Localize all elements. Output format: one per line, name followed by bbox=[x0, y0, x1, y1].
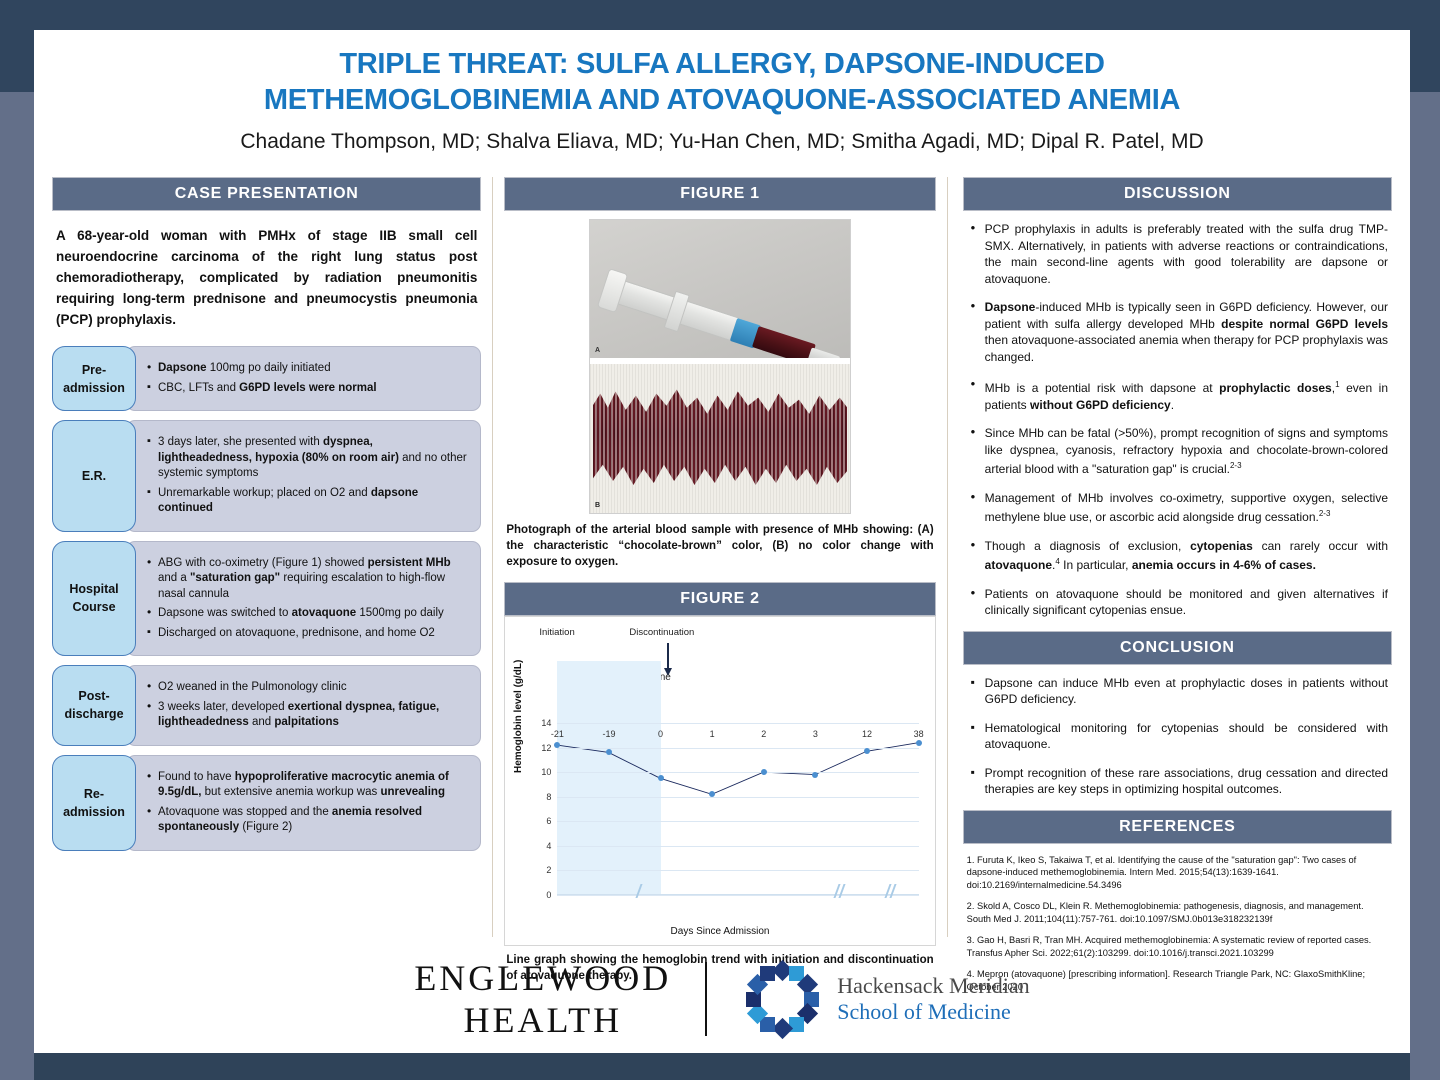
hackensack-diamond-ring-icon bbox=[741, 958, 823, 1040]
timeline-row: Re-admissionFound to have hypoproliferat… bbox=[52, 755, 481, 851]
discussion-bullet: Dapsone-induced MHb is typically seen in… bbox=[967, 299, 1388, 365]
poster-columns: CASE PRESENTATION A 68-year-old woman wi… bbox=[34, 177, 1410, 937]
timeline-stage-content: Dapsone 100mg po daily initiatedCBC, LFT… bbox=[126, 346, 481, 411]
chart-annotation-initiation: Initiation bbox=[539, 627, 574, 638]
chart-discontinuation-arrow-icon bbox=[667, 643, 669, 669]
reference-item: 2. Skold A, Cosco DL, Klein R. Methemogl… bbox=[967, 900, 1388, 925]
chart-x-tick-label: -19 bbox=[602, 729, 615, 739]
englewood-logo-line-1: ENGLEWOOD bbox=[414, 957, 671, 999]
chart-y-axis-label: Hemoglobin level (g/dL) bbox=[513, 660, 524, 773]
column-figures: FIGURE 1 A bbox=[496, 177, 943, 937]
timeline-bullet: Dapsone was switched to atovaquone 1500m… bbox=[147, 606, 468, 622]
timeline-stage-content: ABG with co-oximetry (Figure 1) showed p… bbox=[126, 541, 481, 657]
poster-canvas: TRIPLE THREAT: SULFA ALLERGY, DAPSONE-IN… bbox=[34, 30, 1410, 1053]
figure-2-chart: Initiation Discontinuation Period of ato… bbox=[504, 616, 935, 946]
timeline-bullet: 3 weeks later, developed exertional dysp… bbox=[147, 700, 468, 731]
conclusion-bullet-list: Dapsone can induce MHb even at prophylac… bbox=[963, 665, 1392, 798]
figure-1-panel-a-label: A bbox=[595, 347, 600, 354]
case-intro-paragraph: A 68-year-old woman with PMHx of stage I… bbox=[52, 211, 481, 330]
conclusion-bullet: Dapsone can induce MHb even at prophylac… bbox=[967, 675, 1388, 708]
column-discussion: DISCUSSION PCP prophylaxis in adults is … bbox=[951, 177, 1400, 937]
timeline-stage-content: Found to have hypoproliferative macrocyt… bbox=[126, 755, 481, 851]
chart-data-point bbox=[761, 769, 767, 775]
englewood-health-logo: ENGLEWOOD HEALTH bbox=[414, 957, 671, 1041]
chart-x-tick-label: 3 bbox=[813, 729, 818, 739]
chart-gridline bbox=[557, 895, 918, 896]
chart-y-tick-label: 6 bbox=[546, 816, 551, 826]
poster-title-line-1: TRIPLE THREAT: SULFA ALLERGY, DAPSONE-IN… bbox=[74, 46, 1370, 82]
figure-1-caption: Photograph of the arterial blood sample … bbox=[504, 518, 935, 570]
chart-x-tick-label: 1 bbox=[710, 729, 715, 739]
figure-1-photograph: A B bbox=[589, 219, 851, 514]
figure-1-panel-a-syringe: A bbox=[590, 220, 850, 358]
chart-y-tick-label: 4 bbox=[546, 841, 551, 851]
chart-plot-area: 02468101214-21-1901231238 bbox=[557, 723, 918, 895]
chart-data-point bbox=[709, 791, 715, 797]
section-header-discussion: DISCUSSION bbox=[963, 177, 1392, 211]
chart-annotation-discontinuation: Discontinuation bbox=[629, 627, 694, 638]
timeline-row: Pre-admissionDapsone 100mg po daily init… bbox=[52, 346, 481, 411]
section-header-figure-2: FIGURE 2 bbox=[504, 582, 935, 616]
timeline-bullet: Discharged on atovaquone, prednisone, an… bbox=[147, 626, 468, 642]
timeline-bullet: O2 weaned in the Pulmonology clinic bbox=[147, 680, 468, 696]
logo-diamond bbox=[760, 966, 775, 981]
chart-gridline bbox=[557, 797, 918, 798]
chart-y-tick-label: 14 bbox=[541, 718, 551, 728]
poster-title-line-2: METHEMOGLOBINEMIA AND ATOVAQUONE-ASSOCIA… bbox=[74, 82, 1370, 118]
timeline-bullet: Atovaquone was stopped and the anemia re… bbox=[147, 805, 468, 836]
chart-x-tick-label: 12 bbox=[862, 729, 872, 739]
timeline-bullet: ABG with co-oximetry (Figure 1) showed p… bbox=[147, 556, 468, 603]
timeline-bullet: Found to have hypoproliferative macrocyt… bbox=[147, 770, 468, 801]
discussion-bullet: Management of MHb involves co-oximetry, … bbox=[967, 490, 1388, 526]
chart-y-tick-label: 8 bbox=[546, 792, 551, 802]
timeline-bullet: Dapsone 100mg po daily initiated bbox=[147, 361, 468, 377]
timeline-stage-label: E.R. bbox=[52, 420, 136, 532]
timeline-stage-label: Post-discharge bbox=[52, 665, 136, 746]
poster-authors: Chadane Thompson, MD; Shalva Eliava, MD;… bbox=[74, 129, 1370, 155]
blood-smear-gauze bbox=[593, 387, 848, 489]
chart-x-tick-label: -21 bbox=[551, 729, 564, 739]
discussion-bullet-list: PCP prophylaxis in adults is preferably … bbox=[963, 211, 1392, 619]
chart-gridline bbox=[557, 846, 918, 847]
chart-axis-break-icon bbox=[887, 884, 896, 898]
timeline-row: HospitalCourseABG with co-oximetry (Figu… bbox=[52, 541, 481, 657]
poster-title-block: TRIPLE THREAT: SULFA ALLERGY, DAPSONE-IN… bbox=[34, 30, 1410, 155]
timeline-bullet: 3 days later, she presented with dyspnea… bbox=[147, 435, 468, 482]
chart-gridline bbox=[557, 723, 918, 724]
figure-1-panel-b-label: B bbox=[595, 502, 600, 509]
discussion-bullet: Since MHb can be fatal (>50%), prompt re… bbox=[967, 425, 1388, 478]
column-divider-right bbox=[947, 177, 948, 937]
timeline-stage-label-text: Pre-admission bbox=[63, 361, 125, 397]
chart-data-point bbox=[916, 740, 922, 746]
chart-x-axis-label: Days Since Admission bbox=[511, 926, 928, 937]
chart-plot-container: Initiation Discontinuation Period of ato… bbox=[511, 623, 928, 941]
chart-y-tick-label: 0 bbox=[546, 890, 551, 900]
timeline-stage-label-text: Post-discharge bbox=[64, 687, 123, 723]
englewood-logo-line-2: HEALTH bbox=[414, 999, 671, 1041]
conclusion-bullet: Prompt recognition of these rare associa… bbox=[967, 765, 1388, 798]
section-header-conclusion: CONCLUSION bbox=[963, 631, 1392, 665]
reference-item: 1. Furuta K, Ikeo S, Takaiwa T, et al. I… bbox=[967, 854, 1388, 892]
chart-gridline bbox=[557, 870, 918, 871]
chart-gridline bbox=[557, 772, 918, 773]
timeline-stage-content: O2 weaned in the Pulmonology clinic3 wee… bbox=[126, 665, 481, 746]
section-header-figure-1: FIGURE 1 bbox=[504, 177, 935, 211]
timeline-stage-content: 3 days later, she presented with dyspnea… bbox=[126, 420, 481, 532]
hackensack-logo-text: Hackensack Meridian School of Medicine bbox=[837, 973, 1029, 1025]
chart-x-tick-label: 2 bbox=[761, 729, 766, 739]
poster-footer: ENGLEWOOD HEALTH Hackensack Meridian Sch… bbox=[34, 945, 1410, 1053]
section-header-case-presentation: CASE PRESENTATION bbox=[52, 177, 481, 211]
timeline-stage-label-text: HospitalCourse bbox=[69, 580, 118, 616]
discussion-bullet: Patients on atovaquone should be monitor… bbox=[967, 586, 1388, 619]
discussion-bullet: Though a diagnosis of exclusion, cytopen… bbox=[967, 538, 1388, 574]
discussion-bullet: PCP prophylaxis in adults is preferably … bbox=[967, 221, 1388, 287]
chart-data-point bbox=[812, 772, 818, 778]
timeline-stage-label: HospitalCourse bbox=[52, 541, 136, 657]
timeline-stage-label-text: Re-admission bbox=[63, 785, 125, 821]
chart-gridline bbox=[557, 821, 918, 822]
chart-x-tick-label: 38 bbox=[914, 729, 924, 739]
column-case-presentation: CASE PRESENTATION A 68-year-old woman wi… bbox=[44, 177, 489, 937]
chart-data-point bbox=[554, 742, 560, 748]
timeline-row: E.R.3 days later, she presented with dys… bbox=[52, 420, 481, 532]
chart-y-tick-label: 2 bbox=[546, 865, 551, 875]
syringe-tip bbox=[808, 347, 840, 357]
figure-1-panel-b-smear: B bbox=[590, 364, 850, 513]
timeline-stage-label-text: E.R. bbox=[82, 467, 106, 485]
chart-y-tick-label: 12 bbox=[541, 743, 551, 753]
chart-data-point bbox=[658, 775, 664, 781]
hackensack-logo-line-1: Hackensack Meridian bbox=[837, 973, 1029, 999]
figure-1-image-wrap: A B bbox=[504, 211, 935, 518]
syringe-blood-column bbox=[752, 325, 816, 357]
conclusion-bullet: Hematological monitoring for cytopenias … bbox=[967, 720, 1388, 753]
column-divider-left bbox=[492, 177, 493, 937]
case-timeline: Pre-admissionDapsone 100mg po daily init… bbox=[52, 346, 481, 851]
timeline-stage-label: Pre-admission bbox=[52, 346, 136, 411]
timeline-row: Post-dischargeO2 weaned in the Pulmonolo… bbox=[52, 665, 481, 746]
chart-y-tick-label: 10 bbox=[541, 767, 551, 777]
hackensack-meridian-logo: Hackensack Meridian School of Medicine bbox=[741, 958, 1029, 1040]
syringe-icon bbox=[597, 268, 847, 358]
chart-data-point bbox=[606, 749, 612, 755]
chart-x-tick-label: 0 bbox=[658, 729, 663, 739]
section-header-references: REFERENCES bbox=[963, 810, 1392, 844]
hackensack-logo-line-2: School of Medicine bbox=[837, 999, 1029, 1025]
timeline-bullet: CBC, LFTs and G6PD levels were normal bbox=[147, 381, 468, 397]
chart-axis-break-icon bbox=[836, 884, 845, 898]
timeline-stage-label: Re-admission bbox=[52, 755, 136, 851]
poster-frame-right-band bbox=[1410, 92, 1440, 1080]
chart-axis-minor-tick bbox=[635, 884, 644, 898]
poster-frame-left-band bbox=[0, 92, 34, 1080]
timeline-bullet: Unremarkable workup; placed on O2 and da… bbox=[147, 486, 468, 517]
footer-divider bbox=[705, 962, 707, 1036]
discussion-bullet: MHb is a potential risk with dapsone at … bbox=[967, 377, 1388, 413]
chart-data-point bbox=[864, 748, 870, 754]
